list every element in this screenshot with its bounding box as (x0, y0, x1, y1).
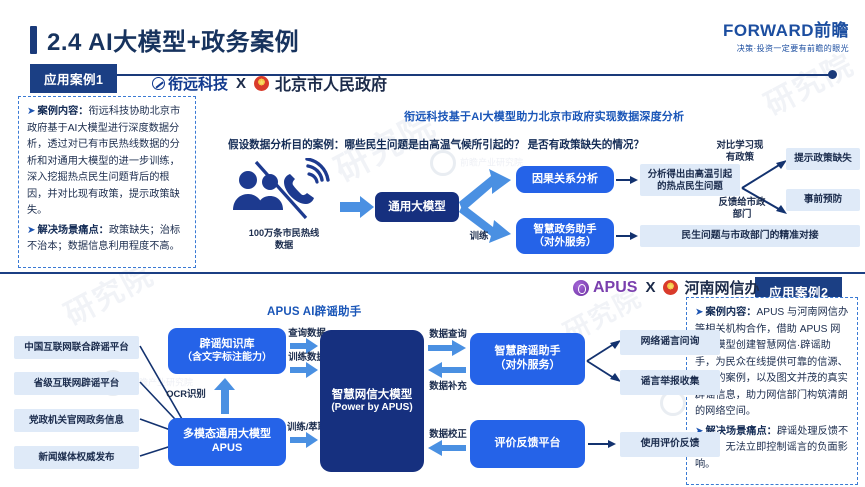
case2-ocr-label: OCR识别 (160, 388, 212, 400)
case2-source-box: 党政机关官网政务信息 (14, 409, 139, 432)
page-title-text: 2.4 AI大模型+政务案例 (47, 22, 299, 57)
arrow-assistant-to-outcome-icon (616, 231, 638, 241)
bullet-icon: ➤ (695, 307, 704, 318)
section-divider (0, 272, 865, 274)
case2-assistant-fork-icon (586, 334, 622, 388)
case1-info-box: ➤案例内容：衔远科技协助北京市政府基于AI大模型进行深度数据分析，透过对已有市民… (18, 96, 196, 268)
case2-edge-data-query: 数据查询 (426, 328, 470, 340)
case2-outcome-eval-feedback-box: 使用评价反馈 (620, 432, 720, 457)
arrow-assistant-to-core-icon (428, 362, 466, 378)
hotline-data-icon (228, 158, 340, 226)
case1-partner-row: 衔远科技 X 北京市人民政府 (152, 71, 387, 95)
case1-train-label: 训练 (462, 230, 496, 242)
brand-tagline: 决策·投资一定要有前瞻的眼光 (723, 43, 849, 54)
china-emblem-icon (663, 280, 678, 295)
case1-tab[interactable]: 应用案例1 (30, 64, 117, 93)
xianyuan-logo-icon: 衔远科技 (152, 73, 228, 94)
arrow-source-to-model-icon (340, 196, 374, 218)
case2-source-box: 省级互联网辟谣平台 (14, 372, 139, 395)
case2-source-box: 新闻媒体权威发布 (14, 446, 139, 469)
slide-canvas: 研究院 研究院 研究院 研究院 研究院 前瞻产业研究院 前瞻产业研究院 前瞻产业… (0, 0, 865, 487)
case2-eval-platform-box[interactable]: 评价反馈平台 (470, 420, 585, 468)
case1-gov-assistant-box[interactable]: 智慧政务助手 （对外服务） (516, 218, 614, 254)
arrow-core-to-assistant-icon (428, 340, 466, 356)
case1-edge-label-compare: 对比学习现 有政策 (712, 139, 768, 163)
bullet-icon: ➤ (27, 106, 36, 117)
case2-diagram-title: APUS AI辟谣助手 (267, 303, 361, 319)
case1-info-line2: ➤解决场景痛点：政策缺失；治标不治本；数据信息利用程度不高。 (27, 223, 187, 256)
brand-logo: FORWARD前瞻 决策·投资一定要有前瞻的眼光 (723, 16, 849, 54)
case1-outcome-matching-box: 民生问题与市政部门的精准对接 (640, 225, 860, 247)
arrow-causal-to-analysis-icon (616, 175, 638, 185)
case2-source-box: 中国互联网联合辟谣平台 (14, 336, 139, 359)
case2-outcome-rumor-query-box: 网络谣言问询 (620, 330, 720, 355)
brand-name: FORWARD前瞻 (723, 16, 849, 41)
partner-separator: X (643, 279, 657, 296)
arrow-eval-to-core-icon (428, 440, 466, 456)
case1-source-caption: 100万条市民热线 数据 (228, 228, 340, 251)
china-emblem-icon (254, 76, 269, 91)
case2-outcome-rumor-report-box: 谣言举报收集 (620, 370, 720, 395)
arrow-ocr-up-icon (214, 378, 236, 414)
case1-causal-analysis-box[interactable]: 因果关系分析 (516, 166, 614, 193)
case1-partner-right: 北京市人民政府 (275, 71, 387, 95)
page-title: 2.4 AI大模型+政务案例 (30, 22, 299, 57)
case1-outcome-policy-gap-box: 提示政策缺失 (786, 148, 860, 170)
arrow-train-data-to-core-icon (290, 362, 318, 378)
header-divider (30, 74, 835, 76)
case2-partner-left: APUS (593, 279, 637, 297)
apus-logo-icon: APUS (573, 279, 637, 297)
case1-diagram-title: 衔远科技基于AI大模型助力北京市政府实现数据深度分析 (404, 108, 684, 124)
case1-info-line1: ➤案例内容：衔远科技协助北京市政府基于AI大模型进行深度数据分析，透过对已有市民… (27, 104, 187, 220)
case2-rumor-assistant-box[interactable]: 智慧辟谣助手 （对外服务） (470, 333, 585, 385)
case1-analysis-result-box: 分析得出由高温引起 的热点民生问题 (640, 164, 740, 196)
case1-question: 假设数据分析目的案例：哪些民生问题是由高温气候所引起的？ 是否有政策缺失的情况？ (228, 137, 688, 152)
case2-edge-data-correct: 数据校正 (426, 428, 470, 440)
arrow-eval-to-outcome-icon (588, 439, 616, 449)
case2-partner-right: 河南网信办 (684, 277, 759, 298)
case2-edge-data-supplement: 数据补充 (426, 380, 470, 392)
case2-core-model-box[interactable]: 智慧网信大模型 (Power by APUS) (320, 330, 424, 472)
case2-knowledge-base-box[interactable]: 辟谣知识库 （含文字标注能力） (168, 328, 286, 374)
partner-separator: X (234, 75, 248, 92)
bullet-icon: ➤ (27, 225, 36, 236)
case2-multimodal-model-box[interactable]: 多模态通用大模型 APUS (168, 418, 286, 466)
case1-outcome-prevention-box: 事前预防 (786, 189, 860, 211)
case2-info-line1: ➤案例内容：APUS 与河南网信办等相关机构合作，借助 APUS 网信大模型创建… (695, 305, 849, 421)
title-accent-bar (30, 26, 37, 54)
arrow-mm-to-core-icon (290, 432, 318, 448)
case1-partner-left: 衔远科技 (168, 73, 228, 94)
header-divider-endpoint (828, 70, 837, 79)
case1-edge-label-feedback: 反馈给市政 部门 (712, 196, 772, 220)
case2-partner-row: APUS X 河南网信办 (573, 277, 759, 298)
case1-general-model-box[interactable]: 通用大模型 (375, 192, 459, 222)
